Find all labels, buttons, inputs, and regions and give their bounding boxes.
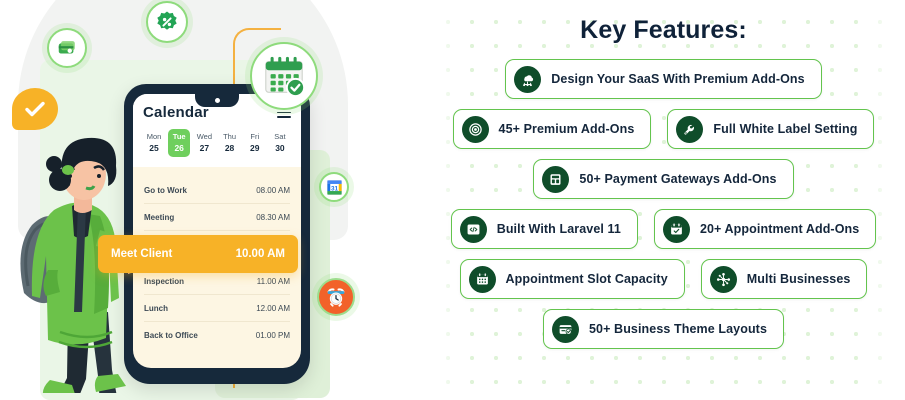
calendar-event-row: Lunch 12.00 AM [144,295,290,322]
features-row: 50+ Business Theme Layouts [430,309,897,349]
calendar-day-name: Tue [173,132,186,141]
event-time: 01.00 PM [256,331,290,340]
highlighted-event-title: Meet Client [111,248,172,260]
network-nodes-icon [710,266,737,293]
feature-pill-payment-gateways[interactable]: 50+ Payment Gateways Add-Ons [533,159,793,199]
features-row: 45+ Premium Add-Ons Full White Label Set… [430,109,897,149]
calendar-day-number: 27 [193,142,215,155]
calendar-day: Wed27 [193,129,215,157]
calendar-check-badge-icon [250,42,318,110]
feature-label: Design Your SaaS With Premium Add-Ons [551,72,804,86]
calendar-day-number: 30 [269,142,291,155]
event-time: 11.00 AM [257,277,290,286]
percent-discount-icon [146,1,188,43]
feature-label: 50+ Payment Gateways Add-Ons [579,172,776,186]
calendar-day-name: Mon [147,132,162,141]
event-title: Meeting [144,213,174,222]
event-time: 08.00 AM [256,186,290,195]
calendar-day-name: Wed [197,132,212,141]
check-icon [23,97,47,121]
feature-label: Multi Businesses [747,272,851,286]
feature-label: Full White Label Setting [713,122,857,136]
calendar-event-row: Meeting 08.30 AM [144,204,290,231]
feature-label: 45+ Premium Add-Ons [499,122,635,136]
feature-pill-white-label[interactable]: Full White Label Setting [667,109,874,149]
calendar-day: Sat30 [269,129,291,157]
wallet-cards-icon [47,28,87,68]
feature-label: Appointment Slot Capacity [506,272,668,286]
illustration-panel: Calendar Mon25 Tue26 Wed27 Thu28 Fri29 S… [0,0,430,400]
code-icon [460,216,487,243]
calendar-day: Fri29 [244,129,266,157]
features-row: Built With Laravel 11 20+ Appointment Ad… [430,209,897,249]
features-row: Appointment Slot Capacity [430,259,897,299]
calendar-day: Thu28 [219,129,241,157]
svg-text:31: 31 [330,185,338,192]
feature-pill-premium-add-ons[interactable]: 45+ Premium Add-Ons [453,109,652,149]
phone-notch [195,93,239,107]
card-check-icon [552,316,579,343]
calendar-day-number: 29 [244,142,266,155]
calendar-day-name: Sat [274,132,285,141]
calendar-day-number: 28 [219,142,241,155]
target-icon [462,116,489,143]
payment-terminal-icon [542,166,569,193]
event-time: 08.30 AM [256,213,290,222]
feature-label: Built With Laravel 11 [497,222,621,236]
feature-pill-appointment-add-ons[interactable]: 20+ Appointment Add-Ons [654,209,876,249]
calendar-check-icon [663,216,690,243]
phone-mockup: Calendar Mon25 Tue26 Wed27 Thu28 Fri29 S… [124,84,310,384]
phone-camera-icon [214,97,221,104]
event-title: Lunch [144,304,168,313]
phone-screen: Calendar Mon25 Tue26 Wed27 Thu28 Fri29 S… [133,94,301,368]
calendar-day-selected: Tue26 [168,129,190,157]
features-row: 50+ Payment Gateways Add-Ons [430,159,897,199]
event-title: Go to Work [144,186,187,195]
feature-label: 20+ Appointment Add-Ons [700,222,859,236]
calendar-event-row: Back to Office 01.00 PM [144,322,290,348]
calendar-week-strip: Mon25 Tue26 Wed27 Thu28 Fri29 Sat30 [143,129,291,161]
event-title: Inspection [144,277,184,286]
event-title: Back to Office [144,331,198,340]
calendar-event-row: Go to Work 08.00 AM [144,177,290,204]
calendar-app-title: Calendar [143,104,209,121]
feature-pill-laravel[interactable]: Built With Laravel 11 [451,209,638,249]
page-title: Key Features: [430,16,897,45]
feature-pill-design-your-saas[interactable]: Design Your SaaS With Premium Add-Ons [505,59,821,99]
calendar-day-name: Fri [250,132,259,141]
calendar-day-name: Thu [223,132,236,141]
feature-pill-multi-businesses[interactable]: Multi Businesses [701,259,868,299]
features-row: Design Your SaaS With Premium Add-Ons [430,59,897,99]
page-root: Calendar Mon25 Tue26 Wed27 Thu28 Fri29 S… [0,0,905,400]
event-time: 12.00 AM [256,304,290,313]
highlighted-event-card[interactable]: Meet Client 10.00 AM [98,235,298,273]
feature-pill-slot-capacity[interactable]: Appointment Slot Capacity [460,259,685,299]
calendar-day: Mon25 [143,129,165,157]
cloud-network-icon [514,66,541,93]
check-speech-bubble [12,88,58,130]
highlighted-event-time: 10.00 AM [236,248,285,260]
calendar-grid-icon [469,266,496,293]
google-calendar-31-icon: 31 [319,172,349,202]
calendar-day-number: 26 [168,142,190,155]
feature-pill-theme-layouts[interactable]: 50+ Business Theme Layouts [543,309,784,349]
calendar-day-number: 25 [143,142,165,155]
alarm-clock-icon [317,278,355,316]
wrench-icon [676,116,703,143]
key-features-panel: Key Features: Design Your SaaS With Prem… [430,2,897,396]
feature-label: 50+ Business Theme Layouts [589,322,767,336]
features-list: Design Your SaaS With Premium Add-Ons 45… [430,59,897,349]
